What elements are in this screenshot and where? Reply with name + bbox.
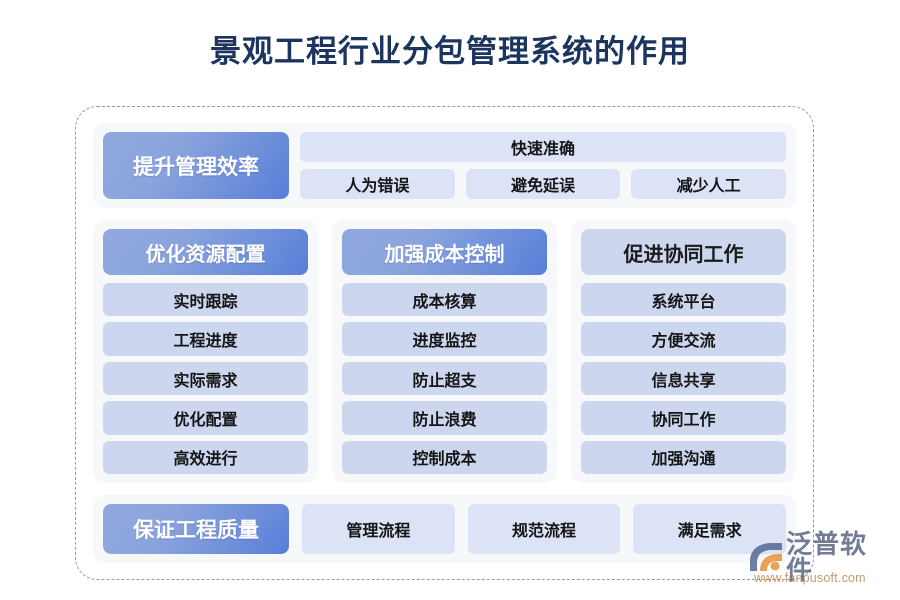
list-item[interactable]: 工程进度: [103, 322, 308, 355]
chip-avoid-delay[interactable]: 避免延误: [466, 169, 621, 199]
list-item[interactable]: 控制成本: [342, 441, 547, 474]
list-item[interactable]: 系统平台: [581, 283, 786, 316]
list-item[interactable]: 成本核算: [342, 283, 547, 316]
column-header-strengthen-cost-control[interactable]: 加强成本控制: [342, 229, 547, 275]
row-header-ensure-quality[interactable]: 保证工程质量: [103, 504, 289, 554]
row-improve-efficiency: 提升管理效率 快速准确 人为错误 避免延误 减少人工: [93, 123, 796, 208]
chip-reduce-labor[interactable]: 减少人工: [631, 169, 786, 199]
list-item[interactable]: 协同工作: [581, 401, 786, 434]
column-header-optimize-resources[interactable]: 优化资源配置: [103, 229, 308, 275]
diagram-content: 提升管理效率 快速准确 人为错误 避免延误 减少人工 优化资源配置 实时跟踪 工…: [93, 123, 796, 563]
fanpu-logo-icon: [748, 541, 784, 573]
list-item[interactable]: 优化配置: [103, 401, 308, 434]
list-item[interactable]: 信息共享: [581, 362, 786, 395]
three-column-group: 优化资源配置 实时跟踪 工程进度 实际需求 优化配置 高效进行 加强成本控制 成…: [93, 220, 796, 483]
row1-items-group: 快速准确 人为错误 避免延误 减少人工: [300, 132, 786, 199]
logo-row: 泛普软件: [748, 540, 888, 574]
logo-url: www.fanpusoft.com: [754, 571, 888, 585]
row-ensure-quality: 保证工程质量 管理流程 规范流程 满足需求: [93, 495, 796, 563]
column-optimize-resources: 优化资源配置 实时跟踪 工程进度 实际需求 优化配置 高效进行: [93, 220, 318, 483]
chip-fast-accurate[interactable]: 快速准确: [300, 132, 786, 162]
diagram-frame: 提升管理效率 快速准确 人为错误 避免延误 减少人工 优化资源配置 实时跟踪 工…: [75, 106, 814, 580]
list-item[interactable]: 实时跟踪: [103, 283, 308, 316]
list-item[interactable]: 方便交流: [581, 322, 786, 355]
page-title: 景观工程行业分包管理系统的作用: [0, 26, 900, 71]
chip-management-process[interactable]: 管理流程: [302, 504, 455, 554]
column-items-optimize-resources: 实时跟踪 工程进度 实际需求 优化配置 高效进行: [103, 283, 308, 474]
chip-standardize-process[interactable]: 规范流程: [468, 504, 621, 554]
column-items-strengthen-cost-control: 成本核算 进度监控 防止超支 防止浪费 控制成本: [342, 283, 547, 474]
column-promote-collaboration: 促进协同工作 系统平台 方便交流 信息共享 协同工作 加强沟通: [571, 220, 796, 483]
list-item[interactable]: 防止超支: [342, 362, 547, 395]
column-strengthen-cost-control: 加强成本控制 成本核算 进度监控 防止超支 防止浪费 控制成本: [332, 220, 557, 483]
list-item[interactable]: 高效进行: [103, 441, 308, 474]
column-header-promote-collaboration[interactable]: 促进协同工作: [581, 229, 786, 275]
row-header-improve-efficiency[interactable]: 提升管理效率: [103, 132, 289, 199]
list-item[interactable]: 进度监控: [342, 322, 547, 355]
list-item[interactable]: 防止浪费: [342, 401, 547, 434]
column-items-promote-collaboration: 系统平台 方便交流 信息共享 协同工作 加强沟通: [581, 283, 786, 474]
chip-human-error[interactable]: 人为错误: [300, 169, 455, 199]
list-item[interactable]: 实际需求: [103, 362, 308, 395]
watermark-logo: 泛普软件 www.fanpusoft.com: [748, 540, 888, 592]
row1-subitems: 人为错误 避免延误 减少人工: [300, 169, 786, 199]
list-item[interactable]: 加强沟通: [581, 441, 786, 474]
